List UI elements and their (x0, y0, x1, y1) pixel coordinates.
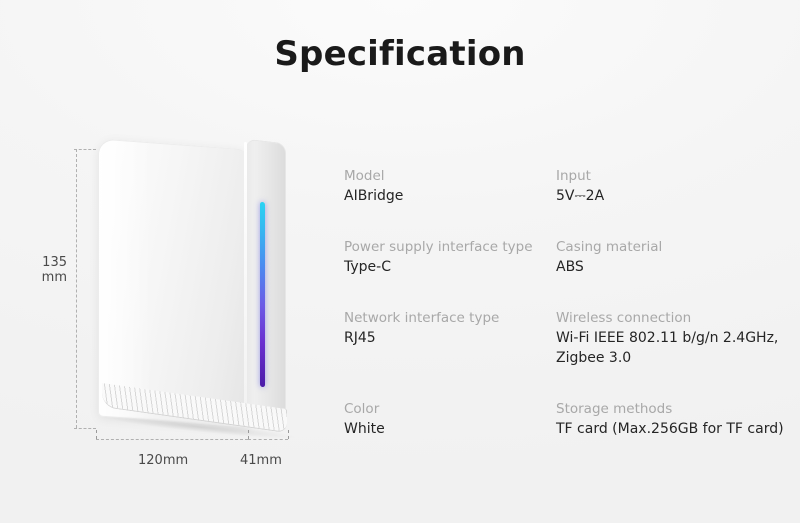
spec-label: Wireless connection (556, 308, 790, 328)
specification-table: Model AIBridge Input 5V⎓2A Power supply … (344, 166, 790, 439)
spec-label: Color (344, 399, 556, 419)
device-front-face (98, 138, 250, 427)
spec-value: Wi-Fi IEEE 802.11 b/g/n 2.4GHz, Zigbee 3… (556, 328, 790, 368)
spec-label: Storage methods (556, 399, 790, 419)
spec-row: Power supply interface type Type-C Casin… (344, 237, 790, 277)
device-side-face (246, 139, 286, 416)
spec-label: Power supply interface type (344, 237, 556, 257)
spec-cell-power-supply-interface-type: Power supply interface type Type-C (344, 237, 556, 277)
product-illustration: 135 mm 120mm 41mm (60, 130, 320, 490)
width-guide-line (96, 439, 248, 440)
spec-value: ABS (556, 257, 790, 277)
height-guide-tick-bottom (74, 428, 96, 429)
dimension-height-unit: mm (25, 270, 67, 285)
spec-row: Model AIBridge Input 5V⎓2A (344, 166, 790, 206)
dimension-label-depth: 41mm (240, 453, 282, 468)
spec-label: Input (556, 166, 790, 186)
spec-cell-model: Model AIBridge (344, 166, 556, 206)
height-guide-line (76, 149, 77, 428)
width-guide-tick-middle (248, 430, 249, 439)
spec-row: Color White Storage methods TF card (Max… (344, 399, 790, 439)
spec-value: RJ45 (344, 328, 556, 348)
spec-label: Model (344, 166, 556, 186)
spec-value: White (344, 419, 556, 439)
spec-label: Casing material (556, 237, 790, 257)
dimension-height-value: 135 (25, 255, 67, 270)
spec-value: Type-C (344, 257, 556, 277)
width-guide-tick-left (96, 430, 97, 439)
depth-guide-tick-right (288, 430, 289, 439)
page-title: Specification (0, 34, 800, 74)
dimension-label-width: 120mm (138, 453, 188, 468)
spec-value: TF card (Max.256GB for TF card) (556, 419, 790, 439)
spec-cell-network-interface-type: Network interface type RJ45 (344, 308, 556, 368)
spec-cell-color: Color White (344, 399, 556, 439)
dimension-label-height: 135 mm (25, 255, 67, 285)
spec-value: AIBridge (344, 186, 556, 206)
spec-label: Network interface type (344, 308, 556, 328)
device-edge-seam (244, 142, 247, 414)
spec-cell-wireless-connection: Wireless connection Wi-Fi IEEE 802.11 b/… (556, 308, 790, 368)
led-indicator-strip (260, 202, 265, 388)
spec-cell-casing-material: Casing material ABS (556, 237, 790, 277)
height-guide-tick-top (74, 149, 96, 150)
depth-guide-line (248, 439, 288, 440)
spec-cell-input: Input 5V⎓2A (556, 166, 790, 206)
spec-value: 5V⎓2A (556, 186, 790, 206)
spec-cell-storage-methods: Storage methods TF card (Max.256GB for T… (556, 399, 790, 439)
spec-row: Network interface type RJ45 Wireless con… (344, 308, 790, 368)
